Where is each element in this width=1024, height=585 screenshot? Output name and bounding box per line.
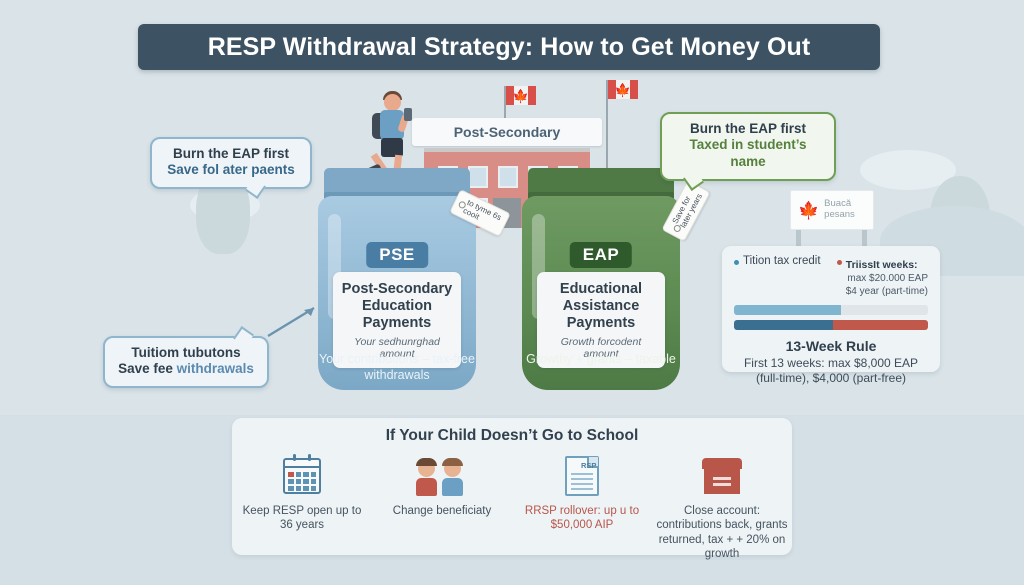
legend-row: Tition tax credit TriissIt weeks: max $2…: [734, 255, 928, 298]
progress-bar-weeks: [734, 320, 928, 330]
jar-label-title: Post-Secondary Education Payments: [339, 281, 455, 332]
callout-line-1: Burn the EAP first: [165, 146, 297, 162]
maple-leaf-icon: 🍁: [615, 83, 631, 96]
jar-pse: PSE Post-Secondary Education Payments Yo…: [318, 168, 476, 390]
page-title: RESP Withdrawal Strategy: How to Get Mon…: [138, 24, 880, 70]
callout-taxed-student: Burn the EAP first Taxed in student’s na…: [660, 112, 836, 181]
callout-line-2: Taxed in student’s name: [675, 137, 821, 171]
rule-title: 13-Week Rule: [734, 338, 928, 354]
legend-block: TriissIt weeks: max $20.000 EAP $4 year …: [846, 255, 928, 298]
legend-sub-1: max $20.000 EAP: [846, 273, 928, 286]
list-item-label: Change beneficiaty: [376, 504, 508, 518]
legend-label: Tition tax credit: [743, 255, 821, 268]
maple-leaf-icon: 🍁: [513, 89, 529, 102]
two-children-icon: [376, 453, 508, 499]
callout-tail: [233, 326, 254, 347]
legend-dot-blue: [734, 260, 739, 265]
maple-leaf-icon: 🍁: [798, 202, 819, 219]
canada-flag-icon: 🍁: [506, 86, 536, 105]
pointer-arrow: [266, 300, 324, 340]
bottom-panel-heading: If Your Child Doesn’t Go to School: [232, 427, 792, 445]
list-item-label: Keep RESP open up to 36 years: [236, 504, 368, 533]
callout-line-2-b: withdrawals: [177, 361, 254, 376]
callout-line-2-a: Save fee: [118, 361, 177, 376]
head-shape: [384, 94, 401, 111]
calendar-icon: [236, 453, 368, 499]
sign-board-text: Buacă pesans: [824, 199, 855, 221]
window-shape: [498, 166, 518, 188]
legend-sub-2: $4 year (part-time): [846, 286, 928, 299]
callout-line-2-b: ater paents: [223, 162, 295, 177]
jar-caption-pse: Your contributions – tax-free withdrawal…: [317, 352, 477, 383]
jar-label-title: Educational Assistance Payments: [543, 281, 659, 332]
legend-item-weeks: TriissIt weeks: max $20.000 EAP $4 year …: [837, 255, 928, 298]
rule-text: First 13 weeks: max $8,000 EAP (full-tim…: [734, 356, 928, 386]
list-item[interactable]: Keep RESP open up to 36 years: [232, 453, 372, 562]
shorts-shape: [381, 138, 403, 157]
callout-tuition-contributions: Tuitiom tubutons Save fee withdrawals: [103, 336, 269, 388]
list-item-label: Close account: contributions back, grant…: [656, 504, 788, 562]
list-item[interactable]: Change beneficiaty: [372, 453, 512, 562]
jar-eap: EAP Educational Assistance Payments Grow…: [522, 168, 680, 390]
info-panel-13-week-rule: Tition tax credit TriissIt weeks: max $2…: [722, 246, 940, 372]
legend-title: TriissIt weeks:: [846, 259, 918, 271]
bottom-panel-items: Keep RESP open up to 36 years: [232, 453, 792, 562]
callout-line-1: Tuitiom tubutons: [118, 345, 254, 361]
infographic-canvas: RESP Withdrawal Strategy: How to Get Mon…: [0, 0, 1024, 585]
legend-dot-red: [837, 260, 842, 265]
rsp-badge: RSP: [581, 461, 596, 470]
jar-caption-eap: Growthy + grants – taxable: [521, 352, 681, 368]
callout-line-2: Save fol ater paents: [165, 162, 297, 179]
progress-bar-tuition: [734, 305, 928, 315]
bar-fill-dark-blue: [734, 320, 833, 330]
callout-burn-eap-left: Burn the EAP first Save fol ater paents: [150, 137, 312, 189]
callout-line-2: Save fee withdrawals: [118, 361, 254, 378]
rsp-document-icon: RSP: [516, 453, 648, 499]
sign-board: 🍁 Buacă pesans: [790, 190, 874, 230]
canada-roadside-sign: 🍁 Buacă pesans: [782, 190, 882, 252]
panel-if-child-doesnt-go-to-school: If Your Child Doesn’t Go to School: [232, 418, 792, 555]
legend-item-tuition: Tition tax credit: [734, 255, 821, 298]
list-item-label: RRSP rollover: up u to $50,000 AIP: [516, 504, 648, 533]
list-item[interactable]: RSP RRSP rollover: up u to $50,000 AIP: [512, 453, 652, 562]
page-title-text: RESP Withdrawal Strategy: How to Get Mon…: [208, 33, 811, 62]
callout-line-1: Burn the EAP first: [675, 121, 821, 137]
bar-fill-light-blue: [734, 305, 841, 315]
phone-icon: [404, 108, 412, 121]
school-sign: Post-Secondary: [412, 118, 602, 146]
callout-line-2-a: Save fol: [167, 162, 223, 177]
school-sign-text: Post-Secondary: [454, 124, 561, 140]
jar-chip-eap: EAP: [570, 242, 632, 268]
closed-box-icon: [656, 453, 788, 499]
list-item[interactable]: Close account: contributions back, grant…: [652, 453, 792, 562]
canada-flag-icon: 🍁: [608, 80, 638, 99]
bar-fill-red: [833, 320, 928, 330]
jar-chip-pse: PSE: [366, 242, 428, 268]
